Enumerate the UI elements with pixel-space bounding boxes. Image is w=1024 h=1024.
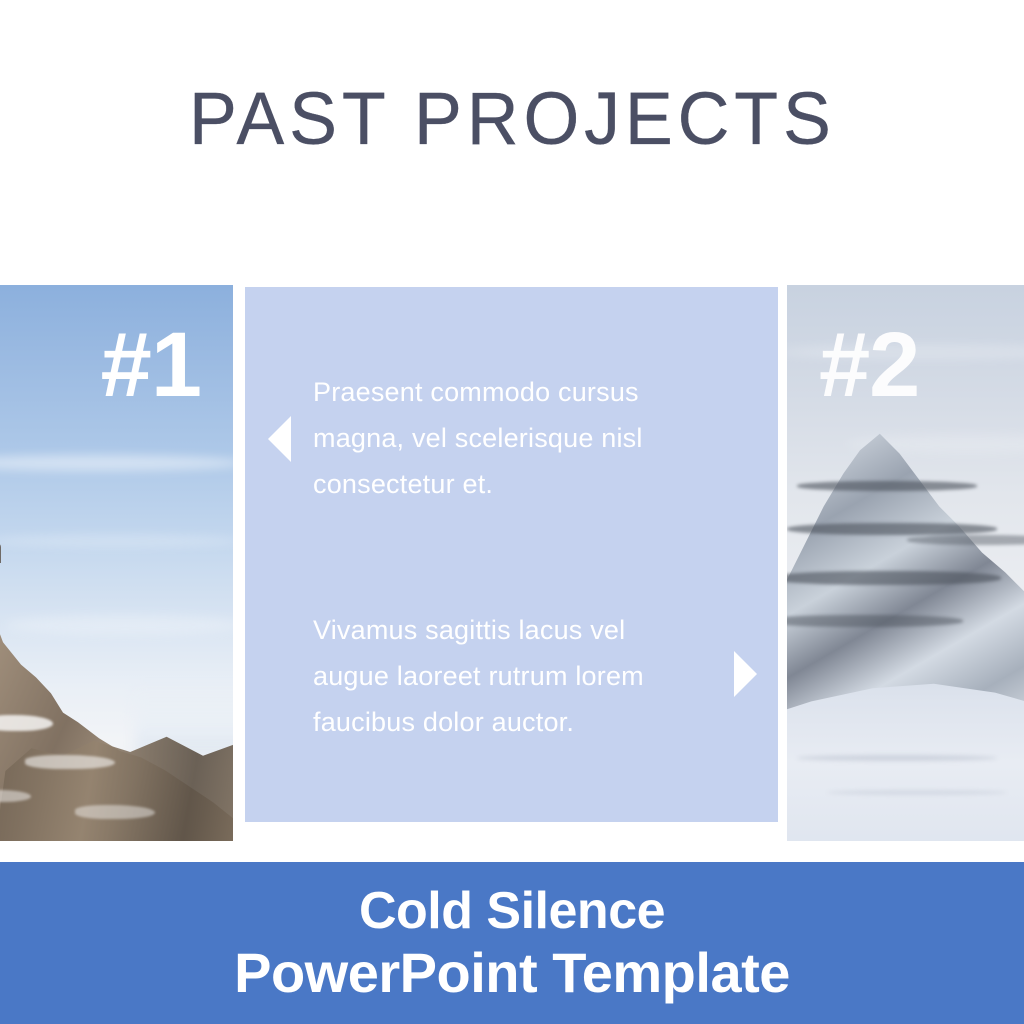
rock-ridge: [907, 535, 1024, 545]
banner-title-line-2: PowerPoint Template: [234, 942, 790, 1005]
rock-ridge: [787, 615, 963, 627]
template-banner: Cold Silence PowerPoint Template: [0, 862, 1024, 1024]
snow-contour: [827, 790, 1007, 795]
cloud-streak-icon: [5, 615, 233, 635]
quote-text-2: Vivamus sagittis lacus vel augue laoreet…: [313, 607, 709, 745]
page-title: PAST PROJECTS: [189, 82, 836, 156]
project-photo-left[interactable]: #1: [0, 285, 233, 841]
quote-text-1: Praesent commodo cursus magna, vel scele…: [313, 369, 709, 507]
snow-patch: [75, 805, 155, 819]
rock-ridge: [787, 523, 997, 535]
project-photo-right[interactable]: #2: [787, 285, 1024, 841]
rock-ridge: [787, 571, 1001, 585]
summit-hut-icon: [0, 543, 1, 563]
slide-canvas: PAST PROJECTS #1: [0, 0, 1024, 1024]
cloud-streak-icon: [0, 535, 233, 547]
snow-contour: [797, 755, 997, 761]
photo-badge-right: #2: [819, 319, 919, 411]
photo-badge-left: #1: [101, 319, 201, 411]
snow-patch: [25, 755, 115, 769]
triangle-right-icon[interactable]: [734, 651, 757, 697]
cloud-streak-icon: [0, 455, 233, 471]
triangle-left-icon[interactable]: [268, 416, 291, 462]
content-band: #1 #2 Praesent commodo cursus magna, vel…: [0, 285, 1024, 843]
banner-title-line-1: Cold Silence: [359, 882, 665, 940]
rock-ridge: [797, 481, 977, 491]
page-title-area: PAST PROJECTS: [0, 74, 1024, 164]
testimonial-panel: Praesent commodo cursus magna, vel scele…: [245, 287, 778, 822]
